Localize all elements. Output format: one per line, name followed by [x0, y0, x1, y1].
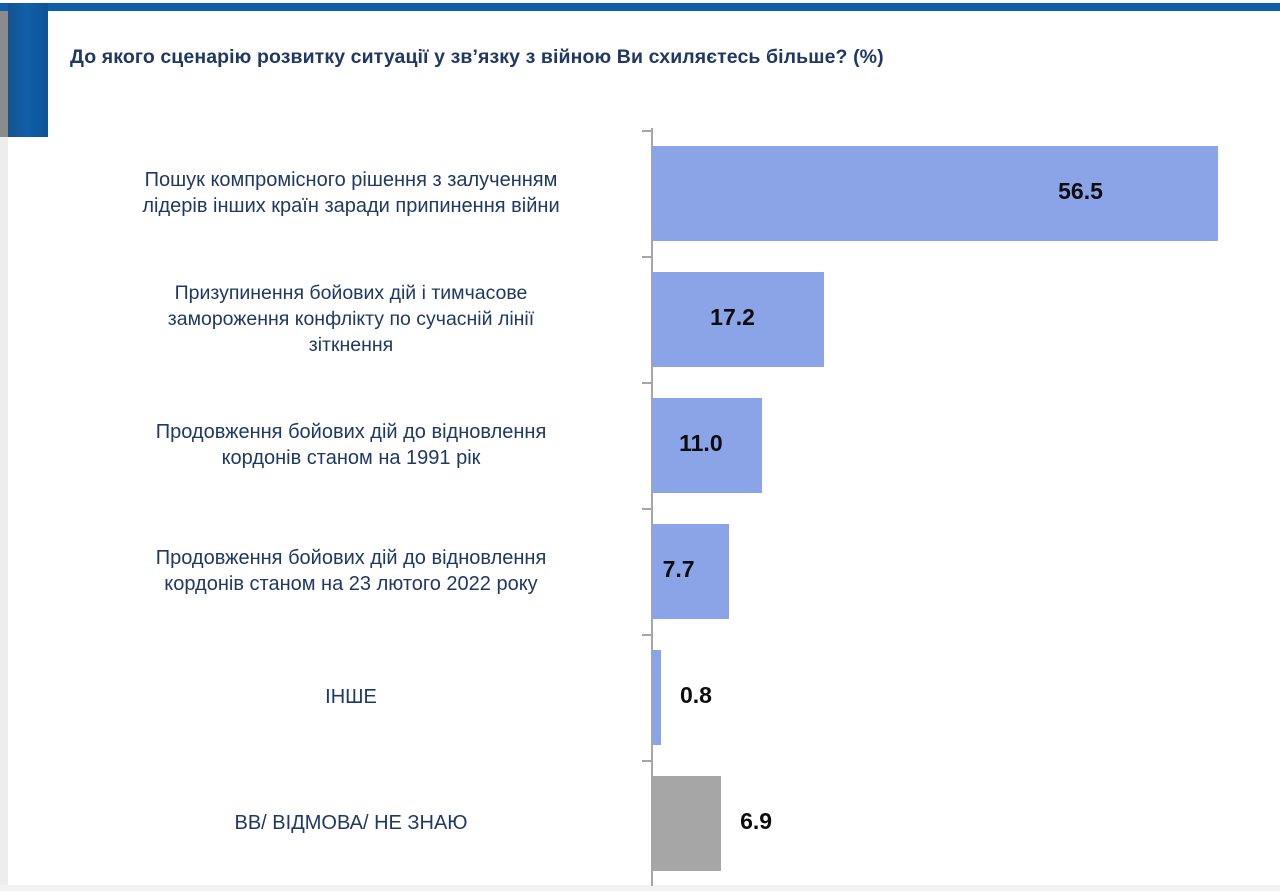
- chart-title: До якого сценарію розвитку ситуації у зв…: [70, 44, 1190, 70]
- bar-value-label: 7.7: [663, 556, 695, 583]
- bar-row: ІНШЕ0.8: [0, 634, 1280, 760]
- accent-left-block: [8, 3, 48, 137]
- category-label: ВВ/ ВІДМОВА/ НЕ ЗНАЮ: [81, 810, 621, 836]
- category-label: Продовження бойових дій до відновленняко…: [81, 419, 621, 471]
- slide-canvas: До якого сценарію розвитку ситуації у зв…: [0, 0, 1280, 891]
- bar-value-label: 11.0: [679, 430, 723, 457]
- bar-value-label: 17.2: [710, 304, 755, 331]
- accent-left-edge: [0, 3, 8, 137]
- bar-value-label: 56.5: [1058, 178, 1103, 205]
- category-label: Пошук компромісного рішення з залученням…: [81, 167, 621, 219]
- category-label: Продовження бойових дій до відновленняко…: [81, 545, 621, 597]
- bar-row: Продовження бойових дій до відновленняко…: [0, 508, 1280, 634]
- bar-row: Продовження бойових дій до відновленняко…: [0, 382, 1280, 508]
- category-label: Призупинення бойових дій і тимчасовезамо…: [81, 280, 621, 358]
- bar-row: Пошук компромісного рішення з залученням…: [0, 130, 1280, 256]
- bar: [652, 776, 721, 871]
- bar: [652, 650, 661, 745]
- accent-top-bar: [0, 3, 1280, 11]
- category-label: ІНШЕ: [81, 684, 621, 710]
- bar: [652, 146, 1218, 241]
- bar-value-label: 6.9: [740, 808, 772, 835]
- chart-plot-area: Пошук компромісного рішення з залученням…: [0, 128, 1280, 888]
- bar-value-label: 0.8: [680, 682, 712, 709]
- bar-row: ВВ/ ВІДМОВА/ НЕ ЗНАЮ6.9: [0, 760, 1280, 886]
- bar-row: Призупинення бойових дій і тимчасовезамо…: [0, 256, 1280, 382]
